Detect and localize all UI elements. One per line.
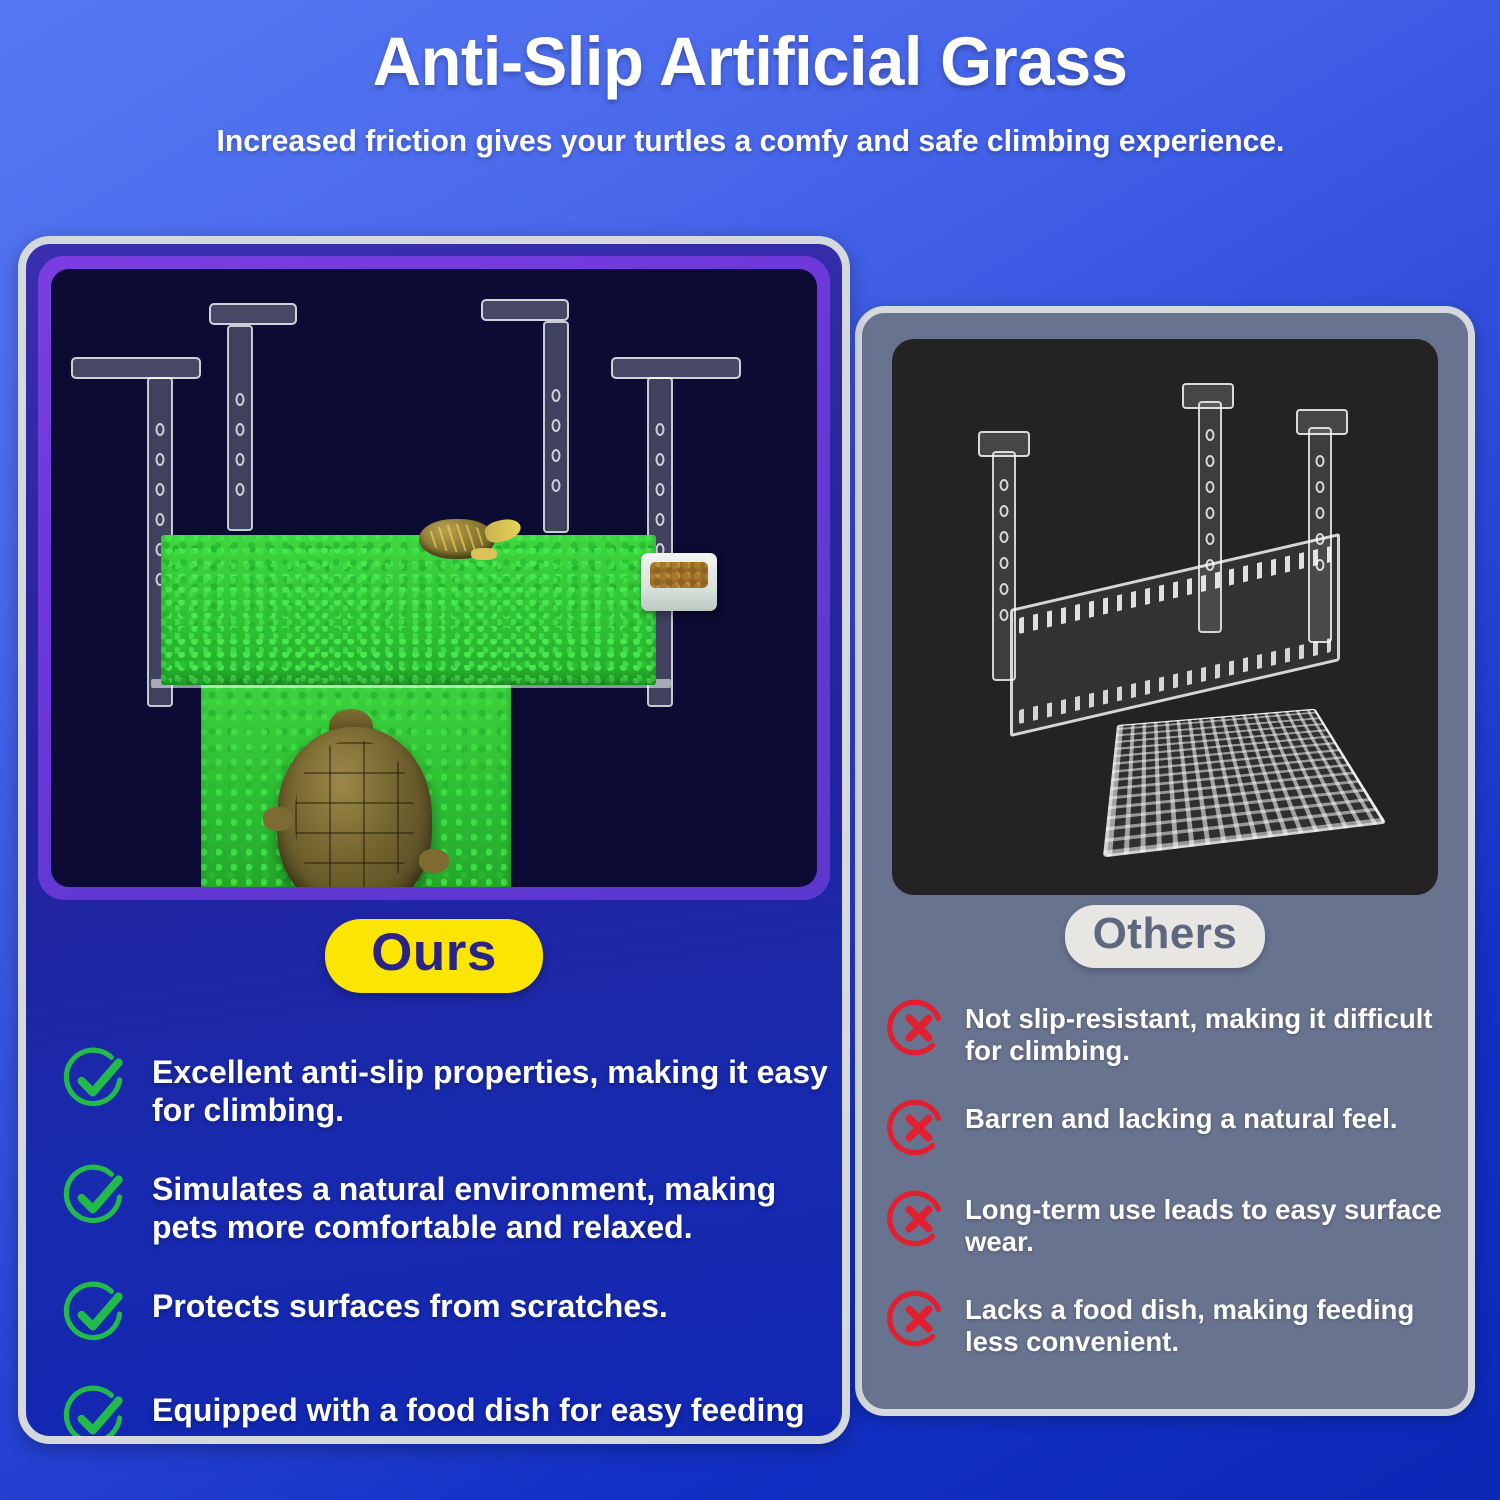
list-item: Long-term use leads to easy surface wear… <box>888 1192 1460 1259</box>
list-item: Excellent anti-slip properties, making i… <box>60 1049 840 1130</box>
list-item: Barren and lacking a natural feel. <box>888 1101 1460 1159</box>
top-grass-mat <box>161 535 656 685</box>
small-turtle <box>419 513 519 561</box>
ours-badge: Ours <box>325 919 543 993</box>
list-item-label: Barren and lacking a natural feel. <box>965 1101 1398 1135</box>
page-title: Anti-Slip Artificial Grass <box>373 22 1128 101</box>
ours-product-photo <box>51 269 817 887</box>
list-item: Protects surfaces from scratches. <box>60 1283 840 1351</box>
support-post-inner-right <box>543 321 569 533</box>
cross-circle-icon <box>888 997 950 1059</box>
others-badge: Others <box>1065 905 1266 968</box>
check-circle-icon <box>60 1277 134 1351</box>
list-item-label: Equipped with a food dish for easy feedi… <box>152 1387 804 1429</box>
clamp-arm-left <box>71 357 201 379</box>
acrylic-platform-frame <box>1010 533 1340 737</box>
others-badge-wrap: Others <box>862 905 1468 968</box>
list-item-label: Not slip-resistant, making it difficult … <box>965 1001 1460 1068</box>
ours-feature-list: Excellent anti-slip properties, making i… <box>60 1049 840 1444</box>
header: Anti-Slip Artificial Grass Increased fri… <box>0 0 1500 215</box>
clamp-arm-right <box>611 357 741 379</box>
check-circle-icon <box>60 1381 134 1444</box>
product-rig <box>51 269 817 887</box>
support-post-inner-left <box>227 325 253 531</box>
food-dish <box>641 553 717 611</box>
list-item: Equipped with a food dish for easy feedi… <box>60 1387 840 1444</box>
others-panel: Others Not slip-resistant, making it dif… <box>855 306 1475 1416</box>
others-feature-list: Not slip-resistant, making it difficult … <box>888 1001 1460 1359</box>
list-item: Not slip-resistant, making it difficult … <box>888 1001 1460 1068</box>
list-item-label: Excellent anti-slip properties, making i… <box>152 1049 840 1130</box>
check-circle-icon <box>60 1043 134 1117</box>
list-item-label: Lacks a food dish, making feeding less c… <box>965 1292 1460 1359</box>
clamp-arm-topright <box>481 299 569 321</box>
list-item: Lacks a food dish, making feeding less c… <box>888 1292 1460 1359</box>
list-item-label: Protects surfaces from scratches. <box>152 1283 668 1325</box>
turtle-paw <box>263 807 293 831</box>
list-item-label: Long-term use leads to easy surface wear… <box>965 1192 1460 1259</box>
ours-panel: Ours Excellent anti-slip properties, mak… <box>18 236 850 1444</box>
turtle-shell <box>277 727 432 887</box>
large-turtle <box>263 709 449 887</box>
list-item-label: Simulates a natural environment, making … <box>152 1166 840 1247</box>
turtle-leg <box>471 548 497 560</box>
check-circle-icon <box>60 1160 134 1234</box>
acrylic-perforated-ramp <box>1103 709 1387 858</box>
cross-circle-icon <box>888 1188 950 1250</box>
ours-badge-wrap: Ours <box>26 919 842 993</box>
ours-photo-frame <box>38 256 830 900</box>
turtle-paw <box>419 849 449 873</box>
cross-circle-icon <box>888 1097 950 1159</box>
clamp-arm-topleft <box>209 303 297 325</box>
page-subtitle: Increased friction gives your turtles a … <box>216 123 1284 159</box>
cross-circle-icon <box>888 1288 950 1350</box>
list-item: Simulates a natural environment, making … <box>60 1166 840 1247</box>
turtle-head <box>483 516 523 545</box>
others-product-photo <box>892 339 1438 895</box>
